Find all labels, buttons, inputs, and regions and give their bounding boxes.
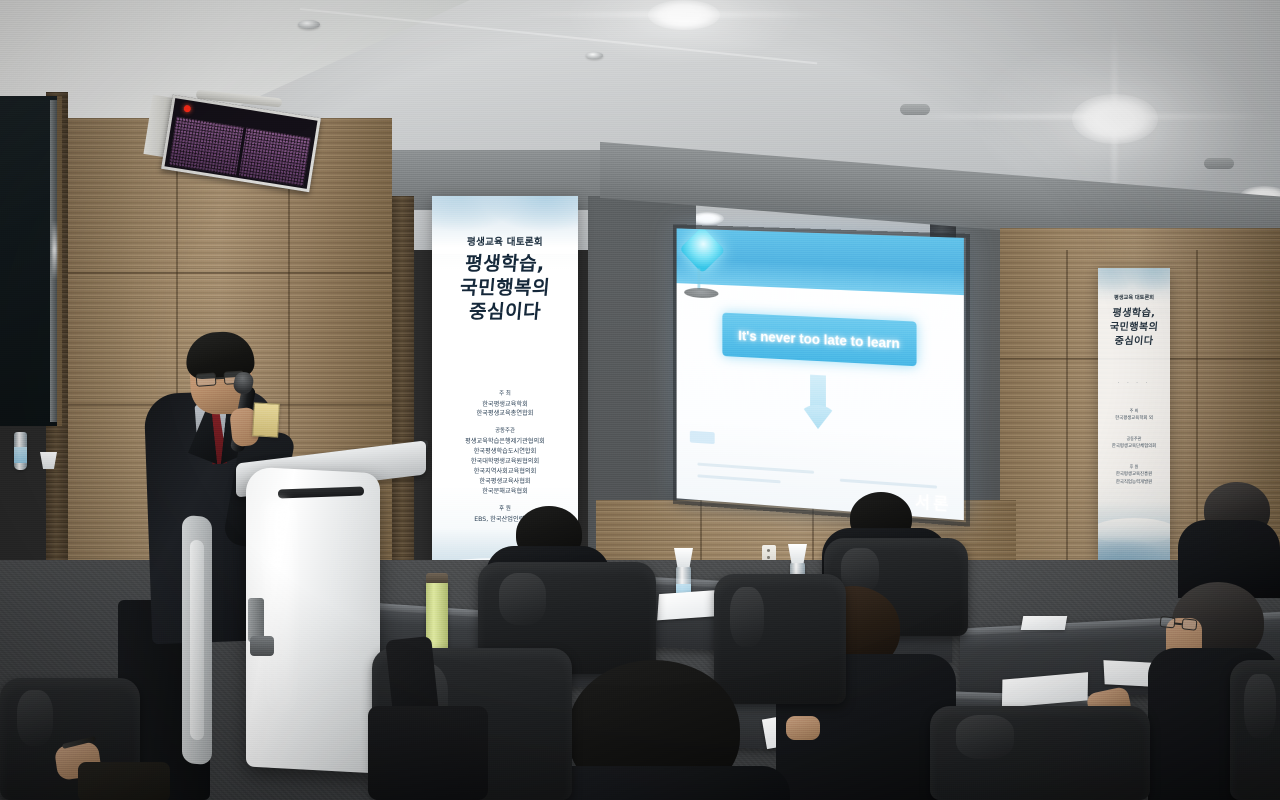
event-banner-right: 평생교육 대토론회 평생학습, 국민행복의 중심이다 · · · · 주 최 한… <box>1098 268 1170 560</box>
banner-coorg-1: 평생교육학습은행제기관협의회 <box>432 438 578 447</box>
document-paper <box>1021 616 1067 630</box>
banner-sponsor-line-2: 한국직업능력개발원 <box>1098 480 1170 486</box>
banner-title-line-1: 평생학습, <box>1098 308 1170 320</box>
wall-panel-seam <box>1066 250 1068 570</box>
ceiling-vent <box>1204 158 1234 169</box>
presentation-slide: 1. 서론 It's never too late to learn <box>677 228 964 520</box>
banner-host-line: 한국평생교육학회 외 <box>1098 416 1170 422</box>
audience-hand <box>786 716 820 740</box>
handbag <box>78 762 170 800</box>
water-bottle <box>14 432 27 470</box>
thermos-cap <box>426 573 448 583</box>
led-power-indicator <box>183 105 191 113</box>
podium-highlight <box>266 499 292 710</box>
window-glint <box>52 220 57 280</box>
wall-trim <box>392 196 414 596</box>
ceiling-vent <box>900 104 930 115</box>
banner-coorg-label: 공동주관 <box>432 428 578 436</box>
banner-coorg-line: 한국평생교육단체협의회 <box>1098 444 1170 450</box>
slide-accent-box <box>690 431 715 444</box>
banner-host-label: 주 최 <box>1098 408 1170 414</box>
document-paper <box>657 590 723 621</box>
banner-top-graphic <box>1098 268 1170 308</box>
banner-coorg-2: 한국평생학습도시연합회 <box>432 448 578 457</box>
equipment-silhouette <box>368 706 488 800</box>
light-flare <box>900 114 1280 119</box>
banner-host-label: 주 최 <box>432 391 578 399</box>
banner-divider: · · · · <box>1098 380 1170 386</box>
banner-title-line-1: 평생학습, <box>432 253 578 275</box>
banner-coorg-3: 한국대학평생교육원협의회 <box>432 458 578 467</box>
banner-host-2: 한국평생교육총연합회 <box>432 410 578 419</box>
banner-coorg-label: 공동주관 <box>1098 436 1170 442</box>
podium-name-plate <box>252 402 280 437</box>
banner-coorg-4: 한국지역사회교육협의회 <box>432 468 578 477</box>
banner-sponsor-line-1: 한국평생교육진흥원 <box>1098 472 1170 478</box>
conference-chair[interactable] <box>930 706 1150 800</box>
podium-side-rail-inner <box>190 540 204 741</box>
banner-title-line-3: 중심이다 <box>1098 336 1170 348</box>
light-flare <box>520 12 840 17</box>
banner-kicker: 평생교육 대토론회 <box>1098 294 1170 301</box>
slide-gem-stem <box>697 268 700 290</box>
banner-coorg-5: 한국평생교육사협회 <box>432 478 578 487</box>
sprinkler-head <box>586 52 603 59</box>
slide-faint-line <box>697 463 814 474</box>
banner-kicker: 평생교육 대토론회 <box>432 234 578 248</box>
banner-bottom-graphic <box>1098 502 1170 560</box>
conference-room-photo: 1. 서론 It's never too late to learn 평생교육 … <box>0 0 1280 800</box>
banner-host-1: 한국평생교육학회 <box>432 401 578 410</box>
conference-chair[interactable] <box>1230 660 1280 800</box>
slide-faint-line <box>697 474 780 483</box>
banner-sponsor-label: 후 원 <box>1098 464 1170 470</box>
slide-headline-text: It's never too late to learn <box>738 328 900 351</box>
conference-chair[interactable] <box>714 574 846 704</box>
slide-down-arrow-icon <box>800 374 836 430</box>
banner-title-line-2: 국민행복의 <box>432 277 578 299</box>
sprinkler-head <box>298 20 320 29</box>
banner-coorg-6: 한국문해교육협회 <box>432 488 578 497</box>
wall-panel-seam <box>62 272 392 274</box>
banner-title-line-2: 국민행복의 <box>1098 322 1170 334</box>
podium-knob <box>250 636 274 656</box>
projection-screen[interactable]: 1. 서론 It's never too late to learn <box>677 228 964 520</box>
banner-title-line-3: 중심이다 <box>432 301 578 323</box>
slide-header-bar <box>677 228 964 295</box>
slide-headline-box: It's never too late to learn <box>722 313 916 367</box>
slide-gem-base <box>684 287 718 298</box>
